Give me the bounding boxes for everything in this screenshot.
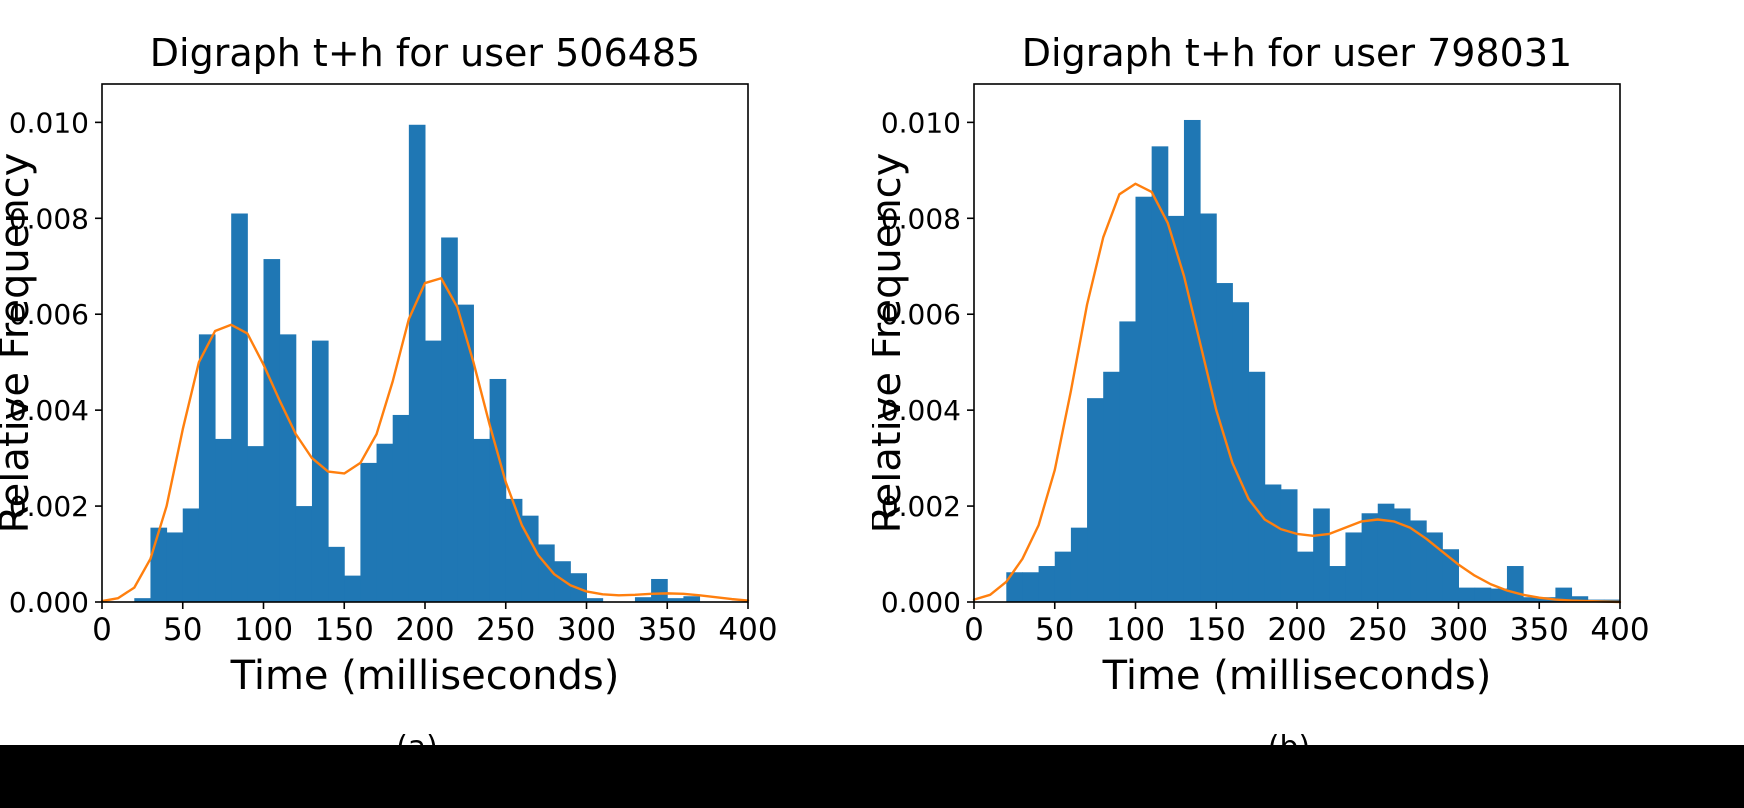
histogram-bar [231,214,248,603]
histogram-bar [1249,372,1266,602]
histogram-bar [377,444,394,602]
x-tick-label: 350 [1510,612,1569,648]
x-tick-label: 300 [557,612,616,648]
histogram-bar [183,508,200,602]
y-tick-label: 0.010 [881,106,961,139]
x-tick-label: 400 [718,612,777,648]
histogram-bar [296,506,313,602]
histogram-bar [457,305,474,602]
x-tick-label: 200 [1267,612,1326,648]
histogram-bar [1297,552,1314,602]
histogram-bar [264,259,281,602]
chart-title: Digraph t+h for user 798031 [1022,31,1572,75]
histogram-bar [393,415,410,602]
subplot-caption-a: (a) [357,731,477,745]
histogram-bar [683,596,700,602]
histogram-bar [1281,489,1298,602]
histogram-bar [1168,216,1185,602]
histogram-bar [1184,120,1201,602]
x-axis-title: Time (milliseconds) [1102,653,1492,699]
histogram-bar [1507,566,1524,602]
histogram-bar [1103,372,1120,602]
histogram-bar [1216,283,1233,602]
histogram-bar [1345,532,1362,602]
panel-a: 0501001502002503003504000.0000.0020.0040… [0,0,872,745]
histogram-bar [1152,146,1169,602]
x-tick-label: 400 [1590,612,1649,648]
x-tick-label: 300 [1429,612,1488,648]
bottom-black-bar [0,745,1744,808]
histogram-bar [409,125,426,602]
histogram-bar [1313,508,1330,602]
x-axis: 050100150200250300350400 [964,602,1649,648]
histogram-bar [1329,566,1346,602]
histogram-bar [247,446,264,602]
histogram-bar [1136,197,1153,602]
y-axis-title: Relative Frequency [872,153,910,534]
histogram-bar [1265,484,1282,602]
histogram-bar [215,439,232,602]
x-tick-label: 250 [1348,612,1407,648]
histogram-bar [1459,588,1476,602]
histogram-bar [360,463,377,602]
histogram-bar [1426,532,1443,602]
histogram-bar [1362,513,1379,602]
x-tick-label: 100 [1106,612,1165,648]
histogram-bar [199,334,216,602]
x-tick-label: 350 [638,612,697,648]
x-tick-label: 0 [92,612,112,648]
histogram-bar [344,576,361,602]
histogram-bar [1200,214,1217,603]
histogram-bar [651,579,668,602]
subplot-caption-b: (b) [1229,731,1349,745]
histogram-bar [1071,528,1088,602]
histogram-bar [150,528,167,602]
x-tick-label: 150 [315,612,374,648]
chart-title: Digraph t+h for user 506485 [150,31,700,75]
histogram-bar [506,499,523,602]
figure-root: 0501001502002503003504000.0000.0020.0040… [0,0,1744,808]
panel-b: 0501001502002503003504000.0000.0020.0040… [872,0,1744,745]
x-tick-label: 200 [395,612,454,648]
histogram-bar [1087,398,1104,602]
x-axis: 050100150200250300350400 [92,602,777,648]
x-tick-label: 50 [163,612,202,648]
histogram-bar [1378,504,1395,602]
histogram-bar [1022,572,1039,602]
y-tick-label: 0.000 [881,586,961,619]
x-tick-label: 150 [1187,612,1246,648]
x-tick-label: 0 [964,612,984,648]
histogram-bar [1119,321,1136,602]
histogram-chart-b: 0501001502002503003504000.0000.0020.0040… [872,0,1744,745]
histogram-bar [490,379,507,602]
histogram-chart-a: 0501001502002503003504000.0000.0020.0040… [0,0,872,745]
y-tick-label: 0.010 [9,106,89,139]
y-axis-title: Relative Frequency [0,153,38,534]
histogram-bar [554,561,571,602]
histogram-bar [1055,552,1072,602]
histogram-bar [425,341,442,602]
y-tick-label: 0.000 [9,586,89,619]
x-tick-label: 250 [476,612,535,648]
x-tick-label: 100 [234,612,293,648]
histogram-bar [473,439,490,602]
histogram-bar [167,532,184,602]
histogram-bar [280,334,297,602]
histogram-bar [328,547,345,602]
histogram-bar [1232,302,1249,602]
histogram-bar [1039,566,1056,602]
x-tick-label: 50 [1035,612,1074,648]
panel-container: 0501001502002503003504000.0000.0020.0040… [0,0,1744,745]
x-axis-title: Time (milliseconds) [230,653,620,699]
histogram-bar [1475,588,1492,602]
